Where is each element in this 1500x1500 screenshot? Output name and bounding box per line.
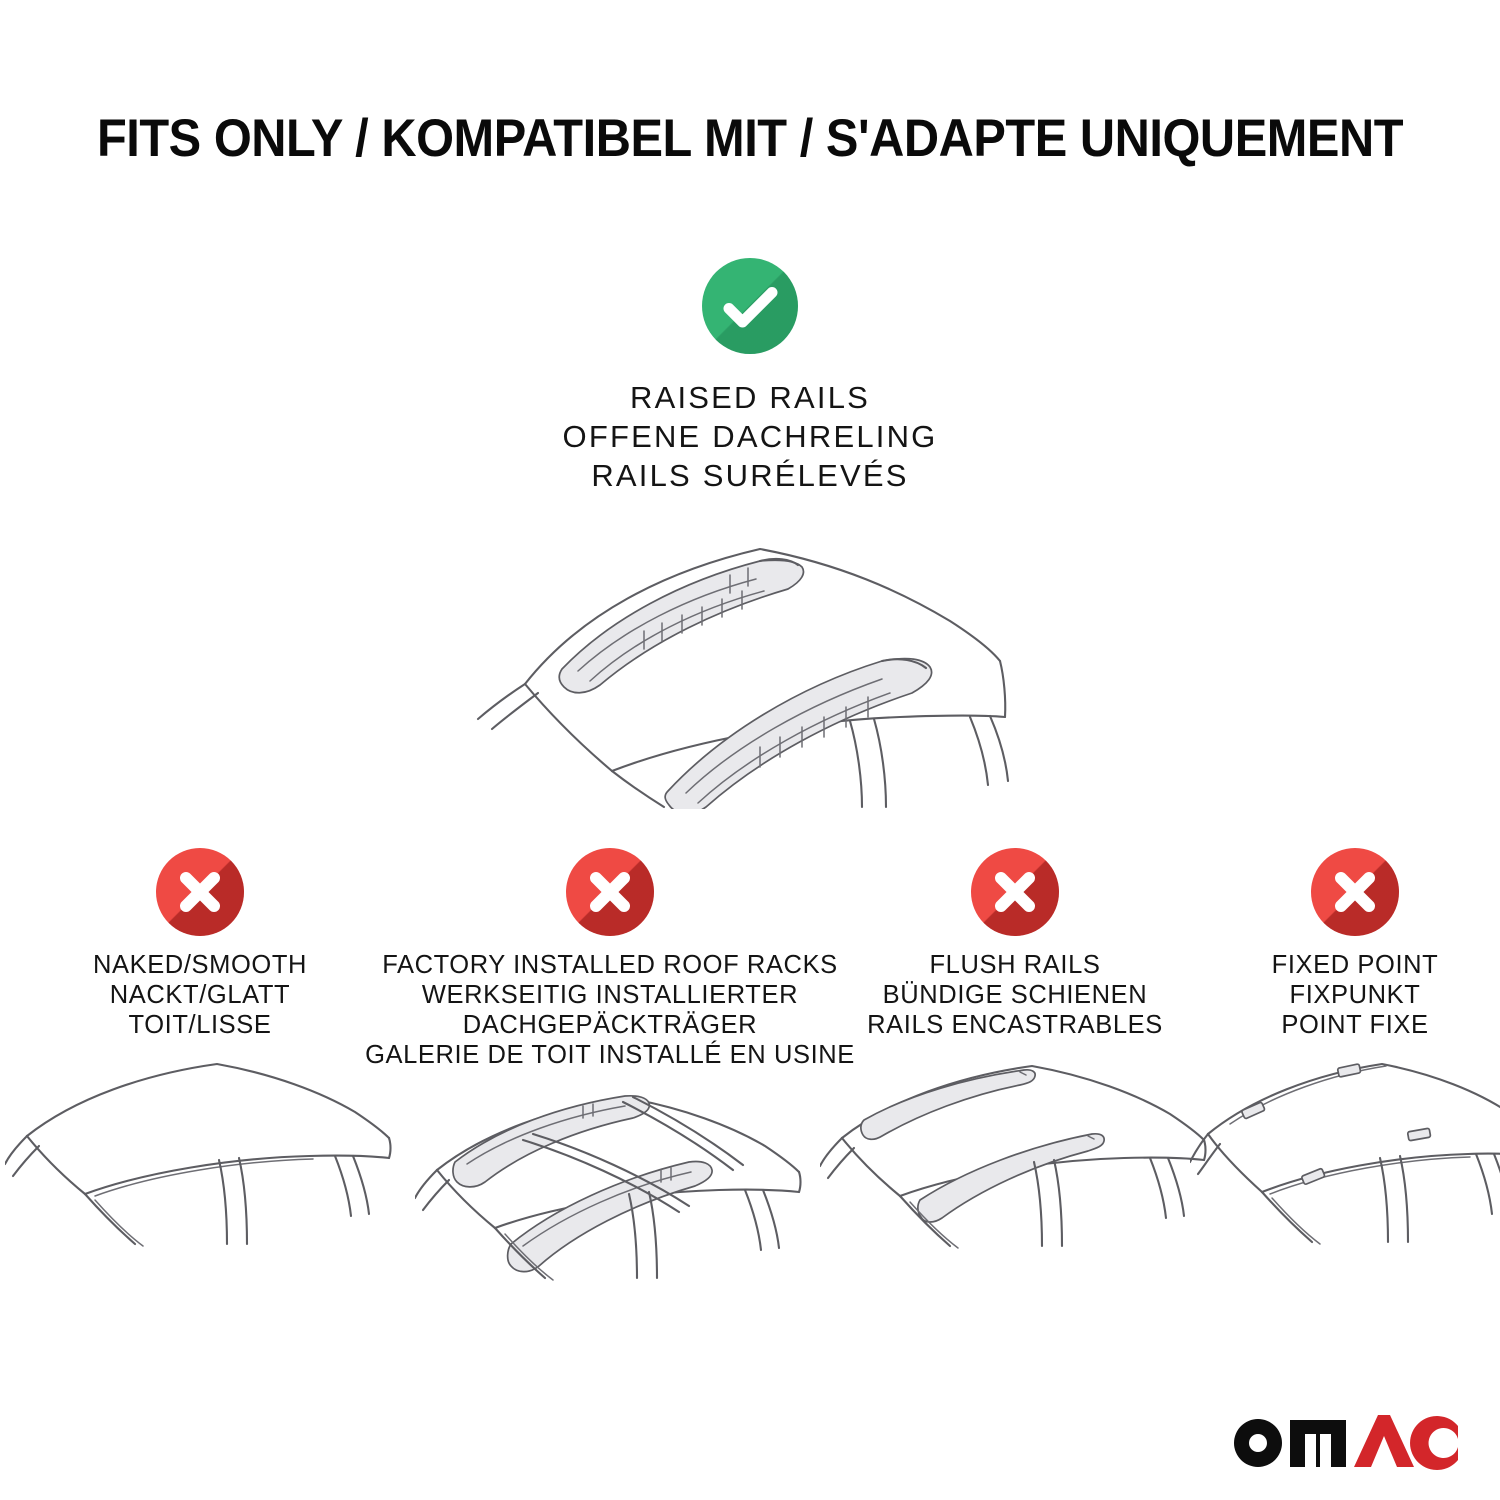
label-de: NACKT/GLATT [93,980,307,1010]
label-en: FLUSH RAILS [867,950,1163,980]
incompatible-item-factory-roof-racks: FACTORY INSTALLED ROOF RACKS WERKSEITIG … [400,848,820,1298]
label-de: BÜNDIGE SCHIENEN [867,980,1163,1010]
label-de: WERKSEITIG INSTALLIERTER [365,980,855,1010]
label-en: FIXED POINT [1272,950,1439,980]
label-fr: GALERIE DE TOIT INSTALLÉ EN USINE [365,1040,855,1070]
car-roof-raised-rails-illustration [430,509,1070,809]
compatible-section: RAISED RAILS OFFENE DACHRELING RAILS SUR… [0,258,1500,809]
label-fr: TOIT/LISSE [93,1010,307,1040]
check-circle-icon [702,258,798,354]
page-title: FITS ONLY / KOMPATIBEL MIT / S'ADAPTE UN… [60,108,1440,169]
car-roof-factory-racks-illustration [415,1078,805,1298]
incompatible-section: NAKED/SMOOTH NACKT/GLATT TOIT/LISSE [0,848,1500,1298]
incompatible-label-fixed-point: FIXED POINT FIXPUNKT POINT FIXE [1272,950,1439,1040]
x-circle-icon [1311,848,1399,936]
car-roof-flush-rails-illustration [820,1048,1210,1268]
compatible-label-en: RAISED RAILS [563,378,938,417]
omac-logo [1230,1414,1458,1472]
x-circle-icon [971,848,1059,936]
incompatible-label-naked-smooth: NAKED/SMOOTH NACKT/GLATT TOIT/LISSE [93,950,307,1040]
compatible-label: RAISED RAILS OFFENE DACHRELING RAILS SUR… [563,378,938,495]
omac-logo-mark [1230,1414,1458,1472]
incompatible-item-flush-rails: FLUSH RAILS BÜNDIGE SCHIENEN RAILS ENCAS… [820,848,1210,1268]
car-roof-fixed-point-illustration [1190,1048,1500,1268]
incompatible-label-factory-roof-racks: FACTORY INSTALLED ROOF RACKS WERKSEITIG … [365,950,855,1070]
incompatible-label-flush-rails: FLUSH RAILS BÜNDIGE SCHIENEN RAILS ENCAS… [867,950,1163,1040]
label-de2: DACHGEPÄCKTRÄGER [365,1010,855,1040]
label-en: FACTORY INSTALLED ROOF RACKS [365,950,855,980]
label-en: NAKED/SMOOTH [93,950,307,980]
label-fr: RAILS ENCASTRABLES [867,1010,1163,1040]
x-circle-icon [156,848,244,936]
compatible-label-fr: RAILS SURÉLEVÉS [563,456,938,495]
x-circle-icon [566,848,654,936]
label-de: FIXPUNKT [1272,980,1439,1010]
label-fr: POINT FIXE [1272,1010,1439,1040]
incompatible-item-fixed-point: FIXED POINT FIXPUNKT POINT FIXE [1210,848,1500,1268]
incompatible-item-naked-smooth: NAKED/SMOOTH NACKT/GLATT TOIT/LISSE [0,848,400,1268]
compatible-label-de: OFFENE DACHRELING [563,417,938,456]
car-roof-naked-illustration [5,1048,395,1268]
